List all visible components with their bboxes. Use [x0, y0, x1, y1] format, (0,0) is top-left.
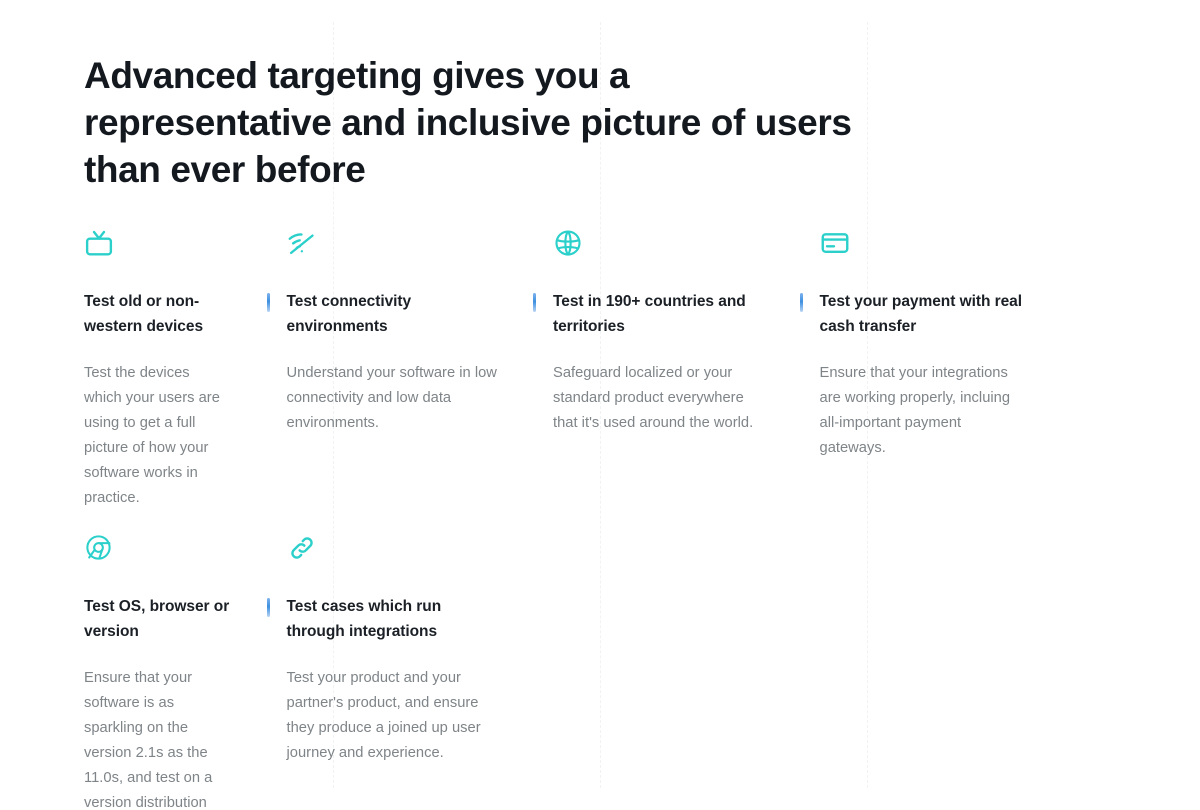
feature-title: Test connectivity environments	[287, 290, 498, 339]
feature-title-text: Test in 190+ countries and territories	[553, 293, 746, 335]
feature-title: Test old or non-western devices	[84, 290, 231, 339]
browser-chrome-icon	[84, 533, 231, 567]
feature-title-text: Test cases which run through integration…	[287, 598, 442, 640]
globe-icon	[553, 228, 764, 262]
link-chain-icon	[287, 533, 498, 567]
page-headline: Advanced targeting gives you a represent…	[84, 52, 884, 193]
feature-title: Test in 190+ countries and territories	[553, 290, 764, 339]
wifi-off-icon	[287, 228, 498, 262]
features-grid: Test old or non-western devices Test the…	[0, 228, 1200, 810]
accent-bar	[267, 598, 270, 617]
feature-title: Test OS, browser or version	[84, 595, 231, 644]
tv-icon	[84, 228, 231, 262]
feature-body: Test your product and your partner's pro…	[287, 666, 498, 766]
features-row: Test old or non-western devices Test the…	[0, 228, 1200, 511]
feature-body: Test the devices which your users are us…	[84, 361, 231, 511]
feature-card: Test your payment with real cash transfe…	[800, 228, 1067, 511]
feature-grid-page: Advanced targeting gives you a represent…	[0, 0, 1200, 810]
feature-card: Test in 190+ countries and territories S…	[533, 228, 800, 511]
accent-bar	[533, 293, 536, 312]
feature-body: Understand your software in low connecti…	[287, 361, 498, 436]
features-row: Test OS, browser or version Ensure that …	[0, 533, 1200, 810]
feature-body: Ensure that your integrations are workin…	[820, 361, 1031, 461]
feature-title-text: Test OS, browser or version	[84, 598, 229, 640]
feature-body: Safeguard localized or your standard pro…	[553, 361, 764, 436]
feature-card: Test OS, browser or version Ensure that …	[0, 533, 267, 810]
feature-title-text: Test old or non-western devices	[84, 293, 203, 335]
feature-card: Test old or non-western devices Test the…	[0, 228, 267, 511]
feature-card: Test connectivity environments Understan…	[267, 228, 534, 511]
feature-title-text: Test connectivity environments	[287, 293, 412, 335]
feature-title: Test your payment with real cash transfe…	[820, 290, 1031, 339]
credit-card-icon	[820, 228, 1031, 262]
feature-card: Test cases which run through integration…	[267, 533, 534, 810]
feature-body: Ensure that your software is as sparklin…	[84, 666, 231, 810]
feature-title: Test cases which run through integration…	[287, 595, 498, 644]
feature-title-text: Test your payment with real cash transfe…	[820, 293, 1023, 335]
accent-bar	[800, 293, 803, 312]
accent-bar	[267, 293, 270, 312]
